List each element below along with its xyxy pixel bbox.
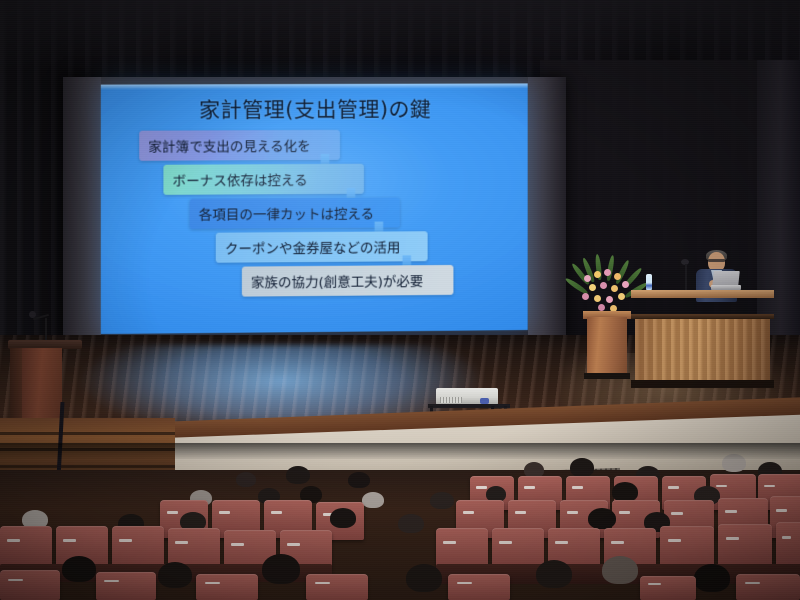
stage-edge-shadow xyxy=(0,443,800,459)
audience-head xyxy=(406,564,442,592)
audience-head xyxy=(236,472,256,487)
audience-head xyxy=(348,472,370,488)
slide-top-edge xyxy=(101,83,528,89)
flow-step-1-label: 家計簿で支出の見える化を xyxy=(148,135,310,156)
audience-seating xyxy=(0,452,800,600)
flow-step-2-label: ボーナス依存は控える xyxy=(172,169,307,190)
audience-head xyxy=(536,560,572,588)
audience-head xyxy=(262,554,300,584)
audience-seat[interactable] xyxy=(0,570,60,600)
audience-head xyxy=(398,514,424,533)
audience-seat[interactable] xyxy=(718,524,772,568)
projected-slide: 家計管理(支出管理)の鍵 家計簿で支出の見える化を ボーナス依存は控える 各項目… xyxy=(101,83,528,334)
auditorium-scene: 家計管理(支出管理)の鍵 家計簿で支出の見える化を ボーナス依存は控える 各項目… xyxy=(0,0,800,600)
screen-frame-right-edge xyxy=(528,77,566,339)
audience-head xyxy=(330,508,356,528)
audience-seat[interactable] xyxy=(112,526,164,568)
flow-step-5: 家族の協力(創意工夫)が必要 xyxy=(242,265,454,297)
audience-head xyxy=(362,492,384,508)
slide-title: 家計管理(支出管理)の鍵 xyxy=(101,93,528,124)
microphone-stem-podium xyxy=(685,264,687,290)
main-podium xyxy=(631,290,774,388)
flow-step-2: ボーナス依存は控える xyxy=(163,164,364,195)
flower-stand xyxy=(583,255,633,380)
screen-frame-left-edge xyxy=(63,77,101,339)
audience-head xyxy=(62,556,96,582)
flow-step-4-label: クーポンや金券屋などの活用 xyxy=(225,236,400,257)
audience-seat[interactable] xyxy=(736,574,800,600)
audience-seat[interactable] xyxy=(196,574,258,600)
flow-step-5-label: 家族の協力(創意工夫)が必要 xyxy=(251,270,423,291)
audience-seat[interactable] xyxy=(96,572,156,600)
projector-vent xyxy=(440,397,462,403)
flower-pedestal xyxy=(587,317,627,375)
podium-base xyxy=(631,380,774,388)
audience-seat[interactable] xyxy=(306,574,368,600)
podium-counter-top xyxy=(631,290,774,298)
glasses-icon xyxy=(708,259,725,262)
audience-head xyxy=(158,562,192,588)
audience-seat[interactable] xyxy=(776,522,800,568)
flow-step-1: 家計簿で支出の見える化を xyxy=(139,130,340,161)
audience-seat[interactable] xyxy=(640,576,696,600)
laptop-screen xyxy=(712,271,740,286)
microphone-stem-left xyxy=(45,318,47,342)
lectern-front-panel xyxy=(22,348,62,426)
left-lectern xyxy=(8,320,82,430)
audience-head xyxy=(430,492,454,509)
slide-flow-diagram: 家計簿で支出の見える化を ボーナス依存は控える 各項目の一律カットは控える クー… xyxy=(101,127,528,330)
flower-pedestal-foot xyxy=(584,373,630,379)
audience-seat[interactable] xyxy=(448,574,510,600)
audience-head xyxy=(588,508,616,529)
projector-device xyxy=(436,388,498,405)
podium-upper-panel xyxy=(634,298,771,314)
water-bottle xyxy=(646,274,652,290)
audience-head xyxy=(694,564,730,592)
flow-step-3-label: 各項目の一律カットは控える xyxy=(199,203,374,224)
audience-seat[interactable] xyxy=(0,526,52,568)
audience-head xyxy=(612,482,638,502)
audience-head xyxy=(602,556,638,584)
audience-head xyxy=(286,466,310,484)
podium-body xyxy=(635,319,770,381)
flow-step-3: 各項目の一律カットは控える xyxy=(190,198,400,229)
flow-step-4: クーポンや金券屋などの活用 xyxy=(216,231,428,263)
audience-head xyxy=(570,458,594,477)
